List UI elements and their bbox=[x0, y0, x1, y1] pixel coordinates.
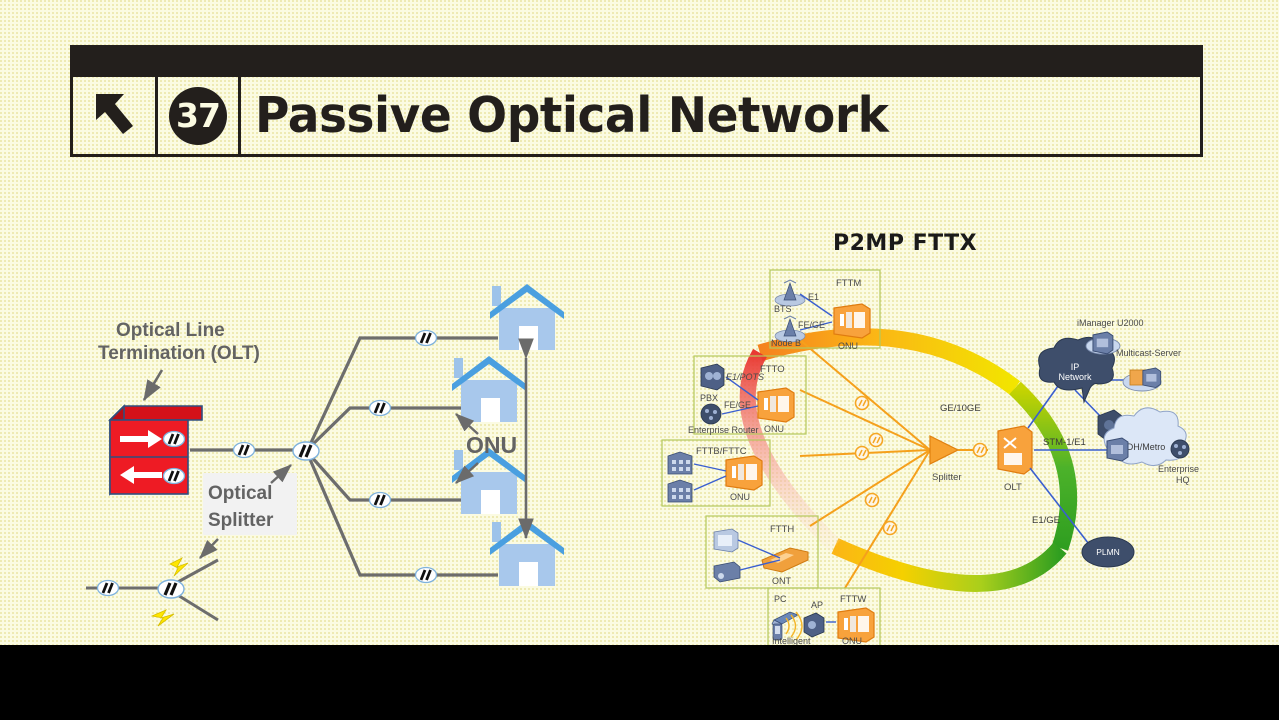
p2mp-fttx-diagram: Splitter OLT bbox=[640, 228, 1200, 648]
ont-device bbox=[762, 548, 808, 572]
imanager-device bbox=[1086, 332, 1120, 354]
link-label-stm1e1: STM-1/E1 bbox=[1043, 437, 1086, 448]
fttw-group: FTTW PC AP bbox=[768, 588, 880, 646]
plmn-label: PLMN bbox=[1096, 547, 1120, 557]
bottom-black-bar bbox=[0, 645, 1279, 720]
pbx-label: PBX bbox=[700, 393, 718, 403]
fttm-onu-label: ONU bbox=[838, 341, 858, 351]
enterprise-hq-device bbox=[1171, 440, 1189, 458]
header-title-box: 37 Passive Optical Network bbox=[70, 74, 1203, 157]
building-icon bbox=[668, 452, 692, 474]
header-top-bar bbox=[70, 45, 1203, 74]
ont-label: ONT bbox=[772, 576, 792, 586]
fiber-connector bbox=[416, 331, 437, 346]
splitter-label-line2: Splitter bbox=[208, 510, 274, 531]
fiber-connector-icon bbox=[856, 397, 869, 410]
plmn-cloud: PLMN bbox=[1082, 537, 1134, 567]
enterprise-router-device bbox=[701, 404, 721, 424]
sdh-edge-device bbox=[1107, 438, 1128, 461]
link-label-e1ge: E1/GE bbox=[1032, 515, 1060, 526]
building-icon bbox=[668, 480, 692, 502]
onu-house bbox=[490, 284, 564, 350]
onu-house bbox=[452, 356, 526, 422]
fiber-connector bbox=[370, 401, 391, 416]
enterprise-hq-label-line2: HQ bbox=[1176, 475, 1190, 485]
bts-label: BTS bbox=[774, 304, 792, 314]
ip-network-label-line1: IP bbox=[1071, 362, 1080, 372]
fiber-connector bbox=[416, 568, 437, 583]
optical-splitter-node bbox=[293, 442, 319, 460]
splitter-detail bbox=[86, 558, 218, 626]
phone-icon bbox=[714, 562, 740, 582]
splitter-pointer-arrow-down bbox=[200, 539, 218, 558]
ftto-onu-label: ONU bbox=[764, 424, 784, 434]
fttm-group-label: FTTM bbox=[836, 278, 861, 289]
ap-label: AP bbox=[811, 600, 823, 610]
splitter-label-line1: Optical bbox=[208, 483, 272, 504]
fiber-lines bbox=[190, 338, 498, 575]
onu-label: ONU bbox=[466, 432, 517, 458]
link-label-ge10ge: GE/10GE bbox=[940, 403, 981, 414]
back-button[interactable] bbox=[73, 77, 158, 154]
fiber-connector-icon bbox=[884, 522, 897, 535]
nodeb-label: Node B bbox=[771, 338, 801, 348]
fttm-link-e1: E1 bbox=[808, 292, 819, 302]
olt-pointer-arrow bbox=[144, 370, 162, 400]
slide-number-badge: 37 bbox=[169, 87, 227, 145]
olt-label-line1: Optical Line bbox=[116, 320, 225, 341]
fttb-onu-label: ONU bbox=[730, 492, 750, 502]
ftto-onu-device bbox=[758, 388, 794, 422]
pc-label: PC bbox=[774, 594, 787, 604]
fiber-connector bbox=[234, 443, 255, 458]
imanager-label: iManager U2000 bbox=[1077, 318, 1144, 328]
slide-header: 37 Passive Optical Network bbox=[70, 45, 1203, 157]
olt-device bbox=[110, 406, 202, 494]
fiber-connector-icon bbox=[866, 494, 879, 507]
pc-monitor-icon bbox=[714, 529, 738, 552]
slide-number-cell: 37 bbox=[158, 77, 241, 154]
slide-canvas: 37 Passive Optical Network bbox=[0, 0, 1279, 720]
fttm-onu-device bbox=[834, 304, 870, 338]
fttb-fttc-group-label: FTTB/FTTC bbox=[696, 446, 747, 457]
back-arrow-icon bbox=[90, 90, 138, 142]
enterprise-hq-label-line1: Enterprise bbox=[1158, 464, 1199, 474]
olt-label: OLT bbox=[1004, 482, 1022, 493]
fiber-connector bbox=[370, 493, 391, 508]
fttw-group-label: FTTW bbox=[840, 594, 866, 605]
ftth-group: FTTH ONT bbox=[706, 516, 818, 588]
ftth-group-label: FTTH bbox=[770, 524, 794, 535]
enterprise-router-label: Enterprise Router bbox=[688, 425, 759, 435]
olt-device bbox=[998, 426, 1032, 474]
ftto-link-e1pots: E1/POTS bbox=[726, 372, 764, 382]
splitter-label: Splitter bbox=[932, 472, 962, 483]
fiber-connector-icon bbox=[870, 434, 883, 447]
page-title-text: Passive Optical Network bbox=[255, 91, 888, 140]
bts-device bbox=[775, 280, 805, 306]
fiber-connector-icon bbox=[856, 447, 869, 460]
fttb-onu-device bbox=[726, 456, 762, 490]
page-title: Passive Optical Network bbox=[241, 77, 1200, 154]
multicast-server-device bbox=[1123, 368, 1161, 391]
multicast-server-label: Multicast-Server bbox=[1116, 348, 1181, 358]
olt-label-line2: Termination (OLT) bbox=[98, 343, 260, 364]
ap-device bbox=[804, 613, 824, 637]
ftto-link-fege: FE/GE bbox=[724, 400, 751, 410]
splitter-device bbox=[930, 436, 988, 464]
ip-network-label-line2: Network bbox=[1058, 372, 1092, 382]
fttm-link-fege: FE/GE bbox=[798, 320, 825, 330]
pon-tree-diagram: Optical Line Termination (OLT) Optical S… bbox=[78, 258, 598, 633]
pbx-device bbox=[701, 364, 724, 390]
